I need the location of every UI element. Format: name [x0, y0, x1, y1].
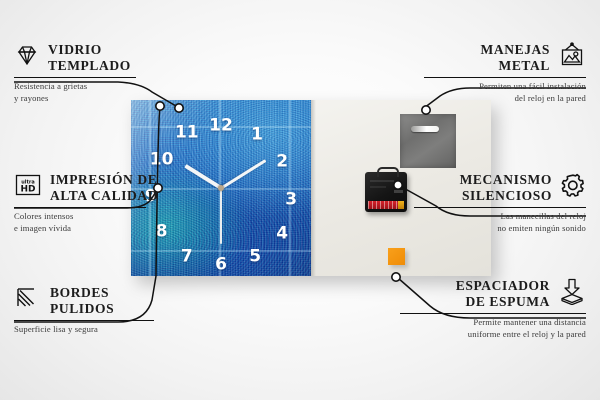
- movement-detail-line-a: [370, 180, 394, 182]
- feature-divider: [424, 77, 586, 78]
- quartz-movement-box: [365, 172, 407, 212]
- clock-numeral-11: 11: [175, 125, 199, 142]
- feature-vidrio-templado: VIDRIO TEMPLADO Resistencia a grietas y …: [14, 42, 174, 104]
- feature-desc-line1: Resistencia a grietas: [14, 81, 174, 93]
- polished-edges-icon: [14, 286, 42, 315]
- clock-numeral-12: 12: [209, 118, 233, 135]
- feature-title-line2: DE ESPUMA: [456, 294, 550, 310]
- feature-title-line1: MECANISMO: [460, 172, 552, 188]
- battery-compartment: [368, 201, 398, 209]
- clock-numeral-3: 3: [285, 192, 297, 209]
- clock-center-cap: [218, 185, 224, 191]
- feature-heading-row: ultra HD IMPRESIÓN DE ALTA CALIDAD: [14, 172, 184, 204]
- feature-title-line1: VIDRIO: [48, 42, 131, 58]
- gear-icon: [560, 172, 586, 203]
- feature-divider: [14, 207, 146, 208]
- clock-numeral-1: 1: [251, 127, 263, 144]
- metal-hanger-plate: [400, 114, 456, 168]
- panel-edge: [311, 100, 316, 276]
- ultra-hd-icon: ultra HD: [14, 173, 42, 202]
- arrow-down-pad-icon: [558, 277, 586, 310]
- feature-heading-row: MECANISMO SILENCIOSO: [408, 172, 586, 204]
- clock-numeral-10: 10: [150, 151, 174, 168]
- feature-impresion-alta-calidad: ultra HD IMPRESIÓN DE ALTA CALIDAD Color…: [14, 172, 184, 234]
- feature-manejas-metal: MANEJAS METAL Permiten una fácil instala…: [416, 42, 586, 104]
- feature-title-line1: MANEJAS: [481, 42, 550, 58]
- clock-numeral-2: 2: [276, 153, 288, 170]
- feature-desc-line1: Permite mantener una distancia: [396, 317, 586, 329]
- feature-divider: [14, 320, 154, 321]
- feature-mecanismo-silencioso: MECANISMO SILENCIOSO Las manecillas del …: [408, 172, 586, 234]
- ultra-hd-icon-text-bottom: HD: [20, 185, 35, 195]
- feature-divider: [414, 207, 586, 208]
- feature-desc-line1: Superficie lisa y segura: [14, 324, 184, 336]
- feature-title-line1: BORDES: [50, 285, 114, 301]
- clock-numeral-6: 6: [215, 257, 227, 274]
- feature-title-line2: ALTA CALIDAD: [50, 188, 158, 204]
- feature-desc-line1: Permiten una fácil instalación: [416, 81, 586, 93]
- movement-yellow-chip: [398, 201, 404, 209]
- movement-detail-line-c: [394, 190, 403, 193]
- feature-title-line1: ESPACIADOR: [456, 278, 550, 294]
- hanging-frame-icon: [558, 42, 586, 73]
- feature-desc-line2: y rayones: [14, 93, 174, 105]
- feature-divider: [400, 313, 586, 314]
- feature-title-line2: TEMPLADO: [48, 58, 131, 74]
- diamond-icon: [14, 43, 40, 72]
- feature-title-line2: PULIDOS: [50, 301, 114, 317]
- clock-second-hand: [220, 188, 221, 244]
- feature-desc-line2: e imagen vívida: [14, 223, 184, 235]
- movement-hanger-loop: [377, 167, 399, 177]
- battery-ticks: [368, 201, 398, 209]
- feature-desc-line1: Colores intensos: [14, 211, 184, 223]
- feature-desc-line2: uniforme entre el reloj y la pared: [396, 329, 586, 341]
- feature-heading-row: MANEJAS METAL: [416, 42, 586, 74]
- feature-heading-row: VIDRIO TEMPLADO: [14, 42, 174, 74]
- infographic-stage: 12 1 2 3 4 5 6 7 8 9 10 11: [0, 0, 600, 400]
- feature-title-line1: IMPRESIÓN DE: [50, 172, 158, 188]
- feature-bordes-pulidos: BORDES PULIDOS Superficie lisa y segura: [14, 285, 184, 336]
- feature-heading-row: BORDES PULIDOS: [14, 285, 184, 317]
- hanger-keyhole-slot: [411, 126, 439, 132]
- clock-numeral-5: 5: [249, 248, 261, 265]
- feature-divider: [14, 77, 136, 78]
- feature-desc-line2: no emiten ningún sonido: [408, 223, 586, 235]
- feature-heading-row: ESPACIADOR DE ESPUMA: [396, 277, 586, 310]
- foam-spacer-pad: [388, 248, 405, 265]
- movement-detail-line-b: [370, 186, 386, 188]
- feature-espaciador-espuma: ESPACIADOR DE ESPUMA Permite mantener un…: [396, 277, 586, 341]
- clock-numeral-4: 4: [276, 225, 288, 242]
- feature-desc-line2: del reloj en la pared: [416, 93, 586, 105]
- clock-numeral-7: 7: [181, 248, 193, 265]
- feature-title-line2: METAL: [481, 58, 550, 74]
- feature-desc-line1: Las manecillas del reloj: [408, 211, 586, 223]
- feature-title-line2: SILENCIOSO: [460, 188, 552, 204]
